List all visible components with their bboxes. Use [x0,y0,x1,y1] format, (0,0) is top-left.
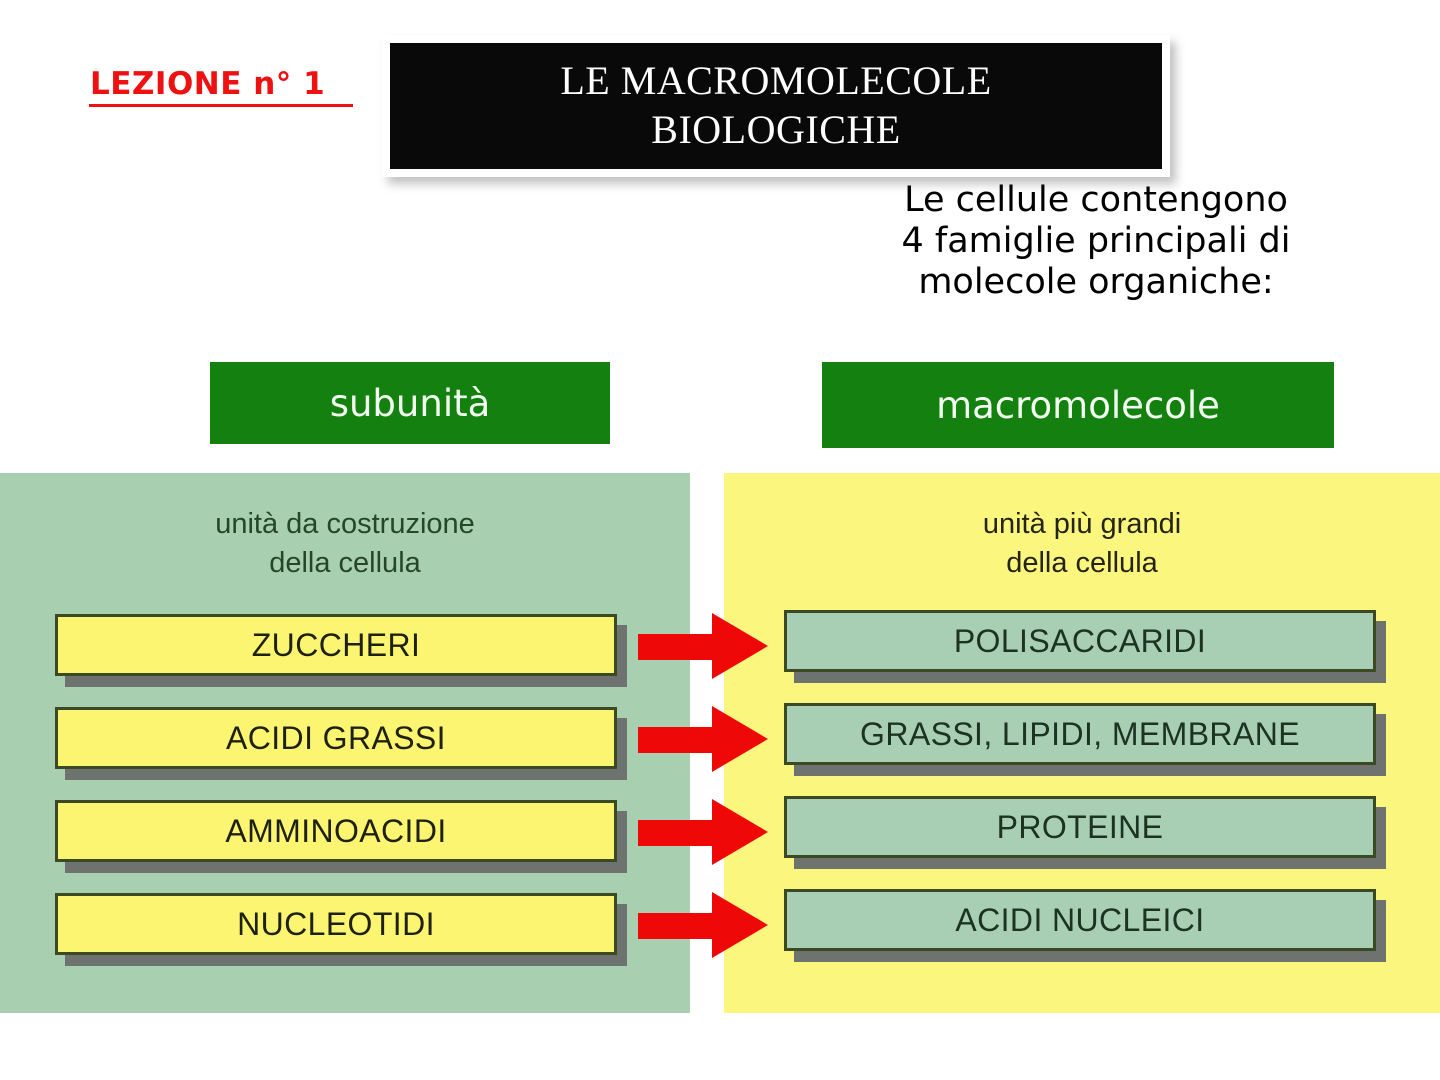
diagram-panel-macromolecules: unità più grandi della cellula POLISACCA… [724,473,1440,1013]
banner-subunits-label: subunità [330,382,491,425]
diagram-item-amminoacidi: AMMINOACIDI [55,800,617,862]
arrow-right-icon-2 [638,706,768,772]
item-label: POLISACCARIDI [954,623,1206,660]
diagram-item-acidi-grassi: ACIDI GRASSI [55,707,617,769]
arrow-head [712,706,768,772]
item-label: PROTEINE [997,809,1164,846]
diagram-item-nucleotidi: NUCLEOTIDI [55,893,617,955]
item-box: POLISACCARIDI [784,610,1376,672]
panel-heading-subunits: unità da costruzione della cellula [0,505,690,582]
arrow-shaft [638,727,720,753]
item-box: NUCLEOTIDI [55,893,617,955]
diagram-item-polisaccaridi: POLISACCARIDI [784,610,1376,672]
item-label: ACIDI NUCLEICI [955,902,1204,939]
page-title: LE MACROMOLECOLE BIOLOGICHE [560,57,991,155]
arrow-shaft [638,913,720,939]
item-label: GRASSI, LIPIDI, MEMBRANE [860,716,1300,753]
diagram-panel-subunits: unità da costruzione della cellula ZUCCH… [0,473,690,1013]
item-box: ACIDI NUCLEICI [784,889,1376,951]
item-box: GRASSI, LIPIDI, MEMBRANE [784,703,1376,765]
banner-macromolecules: macromolecole [822,362,1334,448]
panel-heading-macromolecules: unità più grandi della cellula [724,505,1440,582]
arrow-head [712,613,768,679]
diagram-item-grassi-lipidi-membrane: GRASSI, LIPIDI, MEMBRANE [784,703,1376,765]
lesson-label: LEZIONE n° 1 [90,66,325,102]
diagram-item-proteine: PROTEINE [784,796,1376,858]
intro-paragraph: Le cellule contengono 4 famiglie princip… [836,180,1356,303]
arrow-head [712,799,768,865]
item-box: PROTEINE [784,796,1376,858]
lesson-label-underline [89,104,353,107]
arrow-shaft [638,820,720,846]
banner-macromolecules-label: macromolecole [936,384,1220,427]
title-box: LE MACROMOLECOLE BIOLOGICHE [382,35,1170,177]
banner-subunits: subunità [210,362,610,444]
item-label: ACIDI GRASSI [226,720,446,757]
diagram-item-zuccheri: ZUCCHERI [55,614,617,676]
title-box-inner: LE MACROMOLECOLE BIOLOGICHE [390,43,1162,169]
item-label: AMMINOACIDI [225,813,446,850]
item-label: NUCLEOTIDI [237,906,435,943]
arrow-head [712,892,768,958]
arrow-right-icon-4 [638,892,768,958]
item-box: AMMINOACIDI [55,800,617,862]
item-box: ACIDI GRASSI [55,707,617,769]
item-box: ZUCCHERI [55,614,617,676]
arrow-right-icon-3 [638,799,768,865]
item-label: ZUCCHERI [252,627,421,664]
arrow-shaft [638,634,720,660]
diagram-item-acidi-nucleici: ACIDI NUCLEICI [784,889,1376,951]
arrow-right-icon-1 [638,613,768,679]
